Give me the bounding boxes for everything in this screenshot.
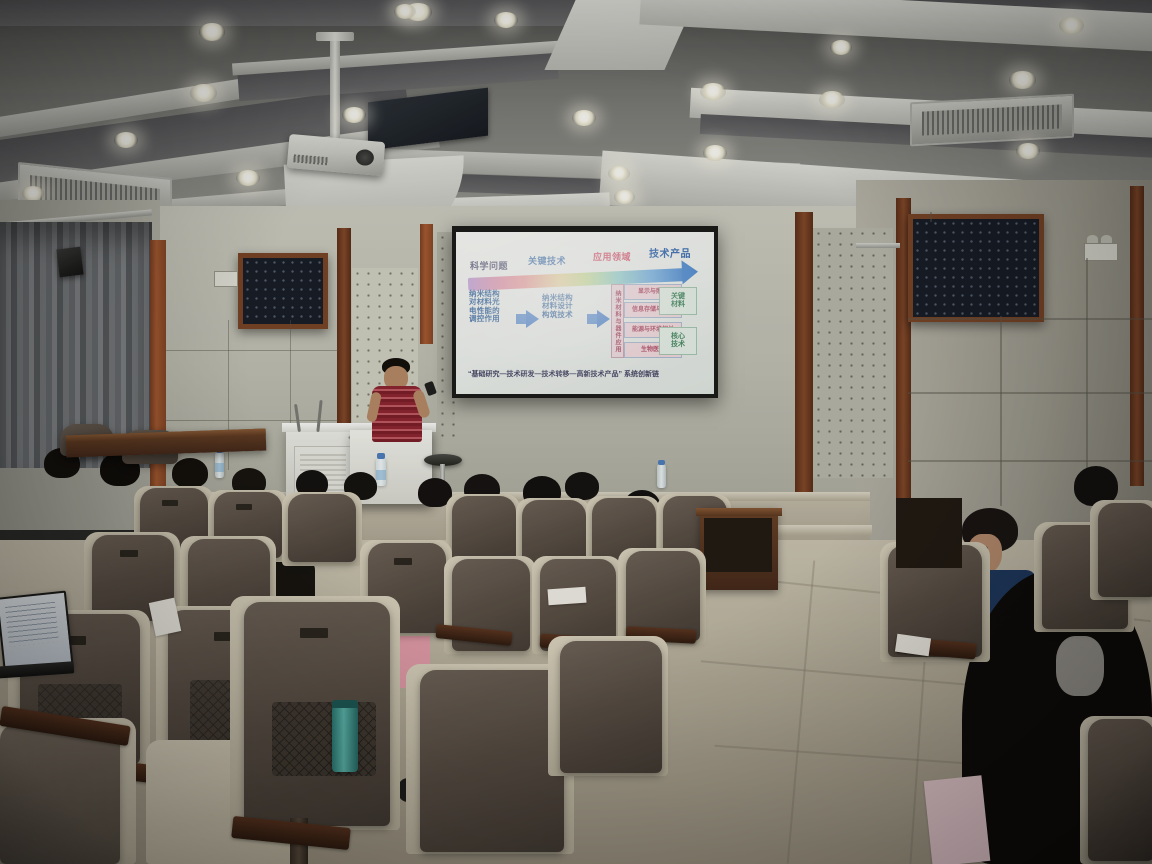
slide-product-box-2: 核心 技术 xyxy=(659,327,697,355)
projector-ceiling-plate xyxy=(316,32,354,41)
wood-pilaster-6 xyxy=(1130,186,1144,486)
wall-panel-line xyxy=(166,350,338,351)
ac-vent-right xyxy=(910,94,1074,147)
downlight-14 xyxy=(494,12,518,28)
slide-flow-arrow-2 xyxy=(597,310,610,328)
downlight-3 xyxy=(190,84,217,102)
water-bottle-2 xyxy=(376,458,386,486)
slide-header-3: 应用领域 xyxy=(593,250,631,263)
downlight-13 xyxy=(572,110,596,126)
slide-vertical-label: 纳米材料与器件应用 xyxy=(611,284,624,358)
slide-header-1: 科学问题 xyxy=(470,259,508,272)
water-bottle-1 xyxy=(215,452,224,478)
projection-screen[interactable]: 科学问题 关键技术 应用领域 技术产品 纳米结构 对材料光 电性能的 调控作用 … xyxy=(456,232,714,394)
downlight-19 xyxy=(1016,143,1040,159)
slide-second-block: 纳米结构 材料设计 构筑技术 xyxy=(542,294,584,319)
emergency-lamp-b xyxy=(1101,235,1112,243)
speaker-board-left xyxy=(238,253,328,329)
wall-panel-line xyxy=(1000,316,1002,506)
wall-rail-right xyxy=(856,243,900,248)
water-tumbler[interactable] xyxy=(332,706,358,772)
slide-header-2: 关键技术 xyxy=(528,254,566,267)
downlight-5 xyxy=(22,186,44,201)
slide-flow-arrow-1-tail xyxy=(516,314,526,324)
wall-panel-line xyxy=(930,212,932,222)
notebook-paper-2 xyxy=(547,587,586,606)
emergency-sign-right xyxy=(1084,243,1118,261)
wood-pilaster-2 xyxy=(337,228,351,443)
downlight-15 xyxy=(608,166,630,181)
downlight-11 xyxy=(700,83,726,100)
wood-pilaster-3 xyxy=(420,224,433,344)
slide-caption: “基础研究—技术研发—技术转移—高新技术产品” 系统创新链 xyxy=(468,369,659,379)
downlight-12 xyxy=(703,145,727,161)
downlight-9 xyxy=(342,107,366,123)
downlight-10 xyxy=(394,4,416,19)
side-desk-right xyxy=(896,498,962,568)
wall-panel-line xyxy=(908,392,1152,394)
wall-panel-line xyxy=(166,420,338,421)
downlight-21 xyxy=(830,40,852,55)
lecture-hall-photo: 科学问题 关键技术 应用领域 技术产品 纳米结构 对材料光 电性能的 调控作用 … xyxy=(0,0,1152,864)
side-desk-1 xyxy=(700,508,778,590)
pink-handout xyxy=(924,775,991,864)
emergency-sign-left xyxy=(214,271,238,287)
wall-panel-line xyxy=(908,318,1152,320)
slide-arrow-head xyxy=(681,260,698,285)
projector-mount-pole xyxy=(330,35,340,140)
slide-left-block: 纳米结构 对材料光 电性能的 调控作用 xyxy=(469,290,511,324)
speaker-board-right xyxy=(908,214,1044,322)
wall-speaker-left xyxy=(56,247,83,278)
slide-flow-arrow-1 xyxy=(526,310,539,328)
slide-product-box-1: 关键 材料 xyxy=(659,287,697,315)
wood-pilaster-4 xyxy=(795,212,813,502)
water-bottle-3 xyxy=(657,464,666,488)
downlight-8 xyxy=(236,170,260,186)
downlight-4 xyxy=(114,132,138,148)
acoustic-panel-right-1 xyxy=(813,228,893,478)
downlight-16 xyxy=(614,190,635,204)
slide-header-4: 技术产品 xyxy=(649,245,691,260)
slide-flow-arrow-2-tail xyxy=(587,314,597,324)
downlight-18 xyxy=(1009,71,1036,89)
downlight-1 xyxy=(199,23,225,41)
emergency-lamp-a xyxy=(1087,235,1098,243)
downlight-20 xyxy=(1059,17,1084,34)
audience-collar xyxy=(1056,636,1104,696)
wall-panel-line xyxy=(908,460,1152,462)
downlight-17 xyxy=(819,91,845,108)
